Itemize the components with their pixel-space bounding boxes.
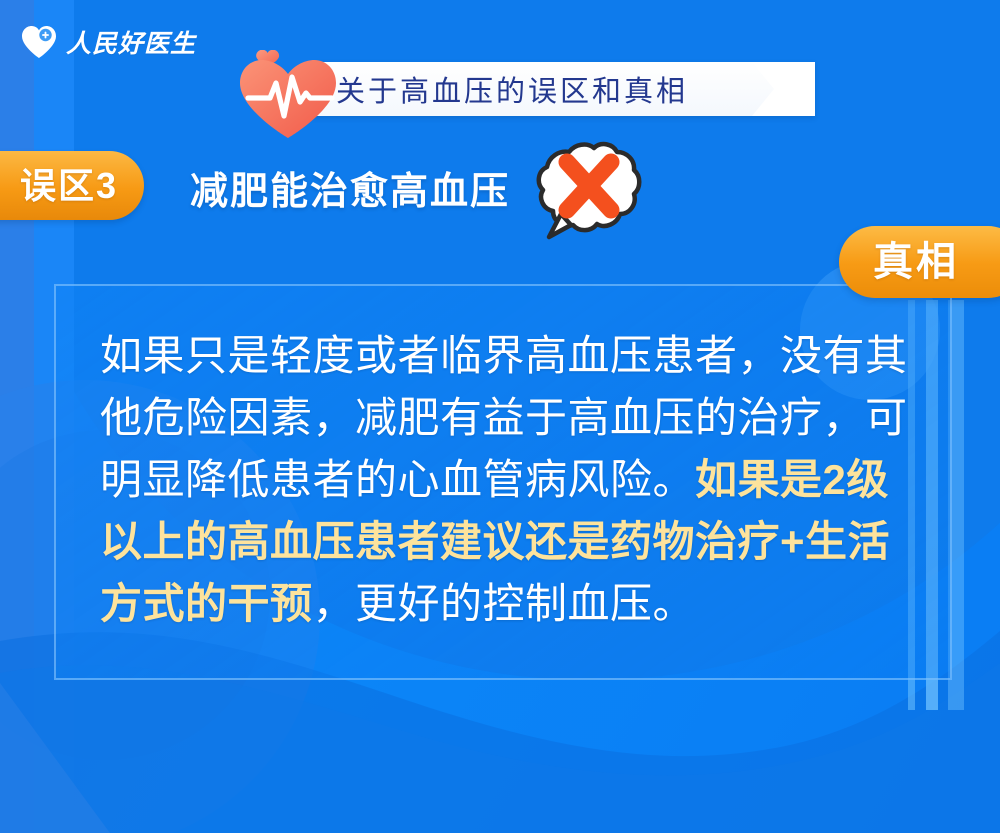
myth-statement: 减肥能治愈高血压: [190, 160, 510, 215]
poster-canvas: 人民好医生 关于高血压的误区和真相 误区3 减肥能治愈高血压: [0, 0, 1000, 833]
truth-tab-label: 真相: [839, 242, 959, 282]
brand-logo-text: 人民好医生: [66, 24, 196, 60]
myth-badge-label: 误区3: [20, 168, 144, 204]
background-corner-triangle: [0, 683, 110, 833]
heart-pulse-icon: [232, 50, 344, 142]
truth-body-part2: ，更好的控制血压。: [313, 580, 696, 627]
truth-tab[interactable]: 真相: [839, 226, 1000, 298]
x-cross-bubble-icon: [531, 140, 643, 246]
truth-body: 如果只是轻度或者临界高血压患者，没有其他危险因素，减肥有益于高血压的治疗，可明显…: [100, 325, 910, 635]
brand-logo[interactable]: 人民好医生: [20, 24, 196, 60]
myth-badge[interactable]: 误区3: [0, 151, 144, 220]
page-title: 关于高血压的误区和真相: [336, 62, 766, 116]
heart-cross-icon: [20, 24, 58, 60]
